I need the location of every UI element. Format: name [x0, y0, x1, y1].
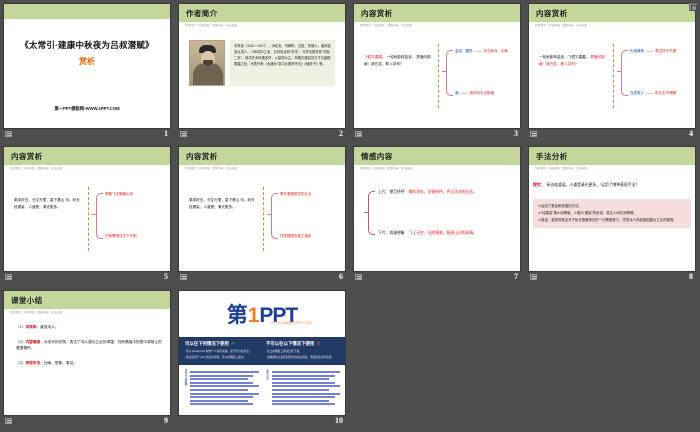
slide-subrule-text-9: 作者简介 · 内容赏析 · 情感内容 · 手法分析 — [10, 310, 62, 314]
notes-icon — [530, 131, 537, 137]
slide-footer-10: 10 — [179, 415, 345, 428]
brace-tip-5 — [92, 214, 96, 215]
usage-allowed-line-1: ·可以 powerpoint 制作个人演示文稿，用于学习和交流。 — [185, 350, 258, 354]
analysis-left-text-5: 乘风好去，长空万里，直下看山 河。斫去桂婆娑，人道是，清光更多。 — [14, 197, 82, 211]
slide-footer-6: 6 — [179, 271, 345, 284]
slide-header-2: 作者简介 — [179, 4, 345, 22]
summary-key-3: 表现手法 — [25, 361, 40, 365]
slide-header-title-6: 内容赏析 — [186, 151, 218, 162]
slide-header-title-2: 作者简介 — [186, 8, 218, 19]
slide-header-5: 内容赏析 — [4, 147, 170, 165]
slide-header-4: 内容赏析 — [529, 4, 695, 22]
brace-shape-3 — [446, 50, 453, 96]
slide-header-title-7: 情感内容 — [361, 151, 393, 162]
brace-tip-3 — [442, 71, 446, 72]
slide-subrule-text-3: 作者简介 · 内容赏析 · 情感内容 · 手法分析 — [360, 23, 412, 27]
branch-bottom-right-6: 抒发报国杀敌之抱负 — [280, 234, 312, 238]
branch-bottom-left-4: 白发欺人 — [630, 91, 644, 95]
notes-icon — [5, 131, 12, 137]
slide-subrule-8: 作者简介 · 内容赏析 · 情感内容 · 手法分析 — [529, 165, 695, 171]
analysis-branch-top-5: 想像飞天俯瞰山河 — [105, 192, 133, 197]
brace-shape-4 — [621, 50, 628, 96]
analysis-left-plain-3: 一轮秋影转金波， — [387, 55, 416, 59]
slide-header-title-3: 内容赏析 — [361, 8, 393, 19]
analysis-left-text-3: 飞镜又重磨。 一轮秋影转金波， 把酒问姮娥：被白发，欺人奈何？ — [364, 54, 432, 68]
summary-key-1: 辛弃疾 — [25, 325, 36, 329]
slide-footer-4: 4 — [529, 128, 695, 141]
slide-cell-7[interactable]: 情感内容 作者简介 · 内容赏析 · 情感内容 · 手法分析 上片：望月抒怀 慨… — [350, 143, 525, 287]
summary-key-2: 内容情感 — [25, 340, 40, 344]
summary-item-2: （2）内容情感：对流年的叹惋，表达了词人建功立业的渴望、扫除黑暗中恢复中原故土的… — [16, 340, 162, 352]
slide-thumbnail-1[interactable]: 《太常引·建康中秋夜为吕叔潜赋》 赏析 第一PPT模板网-WWW.1PPT.CO… — [4, 4, 170, 128]
slide-thumbnail-8[interactable]: 手法分析 作者简介 · 内容赏析 · 情感内容 · 手法分析 探究： “斫去桂婆… — [529, 147, 695, 271]
slide-number-1: 1 — [164, 129, 168, 138]
brand-detail-columns: 第1PPT模板网 免费下载 — [179, 365, 345, 415]
brace-tip-4 — [617, 71, 621, 72]
notes-icon — [180, 131, 187, 137]
slide-header-title-5: 内容赏析 — [11, 151, 43, 162]
slide-cell-6[interactable]: 内容赏析 作者简介 · 内容赏析 · 情感内容 · 手法分析 乘风好去，长空万里… — [175, 143, 350, 287]
brace-shape-5 — [96, 193, 103, 239]
brand-detail-left: 第1PPT模板网 — [184, 369, 259, 411]
branch-bottom-left-3: 酒 — [455, 91, 459, 95]
summary-text-3: ：比喻、想象、象征。 — [40, 361, 77, 365]
notes-icon — [355, 274, 362, 280]
slide-number-7: 7 — [514, 272, 518, 281]
technique-question-key: 探究： — [533, 183, 544, 187]
slide-number-6: 6 — [339, 272, 343, 281]
analysis-branch-bottom-3: 酒 —— 用问句引出愁绪 — [455, 91, 494, 96]
slide-thumbnail-4[interactable]: 内容赏析 作者简介 · 内容赏析 · 情感内容 · 手法分析 一轮秋影转金波，飞… — [529, 4, 695, 128]
technique-question: 探究： “斫去桂婆娑，人道是清光更多。”运用了哪种表现手法？ — [533, 183, 691, 188]
title-slide-sub-title: 赏析 — [79, 56, 95, 67]
slide-thumbnail-grid: 《太常引·建康中秋夜为吕叔潜赋》 赏析 第一PPT模板网-WWW.1PPT.CO… — [0, 0, 700, 432]
slide-cell-empty-2 — [525, 287, 700, 432]
summary-item-1: （1）辛弃疾：豪放词人。 — [16, 325, 162, 331]
notes-icon — [5, 274, 12, 280]
technique-question-text: “斫去桂婆娑，人道是清光更多。”运用了哪种表现手法？ — [545, 183, 639, 187]
emotion-label-lower: 下片：浪漫想象 — [378, 231, 405, 235]
slide-cell-3[interactable]: 内容赏析 作者简介 · 内容赏析 · 情感内容 · 手法分析 飞镜又重磨。 一轮… — [350, 0, 525, 143]
portrait-beard — [203, 60, 213, 66]
usage-allowed-line-2: ·建立适用于 web 的演示文稿，可以在网络上发布。 — [185, 356, 258, 360]
analysis-left-text-4: 一轮秋影转金波，飞镜又重磨。 把酒问姮娥：被白发，欺人奈何？ — [539, 54, 607, 68]
slide-cell-4[interactable]: 内容赏析 作者简介 · 内容赏析 · 情感内容 · 手法分析 一轮秋影转金波，飞… — [525, 0, 700, 143]
branch-dash-4: —— — [645, 49, 654, 53]
analysis-branch-top-6: 寄托澄清寰宇的壮志 — [280, 192, 312, 197]
title-slide-main-title: 《太常引·建康中秋夜为吕叔潜赋》 — [20, 39, 154, 51]
brand-right-lines — [272, 369, 340, 411]
emotion-row-lower: 下片：浪漫想象 飞上天空，扫除黑暗，照亮山河的豪情。 — [378, 231, 477, 236]
portrait-robe — [193, 63, 223, 85]
usage-forbidden-column: 不可以在以下情况下使用 ✘ ·禁止在网络上再次出售下载。 ·出版销售以及任何形式… — [266, 341, 339, 360]
title-slide-top-band — [4, 4, 170, 19]
slide-cell-9[interactable]: 课堂小结 作者简介 · 内容赏析 · 情感内容 · 手法分析 （1）辛弃疾：豪放… — [0, 287, 175, 432]
slide-number-8: 8 — [689, 272, 693, 281]
slide-footer-1: 1 — [4, 128, 170, 141]
divider-dashed-4 — [613, 44, 614, 108]
slide-subrule-text-4: 作者简介 · 内容赏析 · 情感内容 · 手法分析 — [535, 23, 587, 27]
brand-left-lines — [190, 369, 258, 411]
technique-answer-2: ②“桂婆娑”指人间黑暗，①借对“婆娑”的斫伐，表达人间扫清黑暗。 — [538, 210, 686, 217]
slide-number-10: 10 — [335, 416, 343, 425]
emotion-row-upper: 上片：望月抒怀 慨叹流年，对镜伤怀，件记功业的壮志。 — [378, 190, 477, 195]
slide-cell-1[interactable]: 《太常引·建康中秋夜为吕叔潜赋》 赏析 第一PPT模板网-WWW.1PPT.CO… — [0, 0, 175, 143]
slide-thumbnail-3[interactable]: 内容赏析 作者简介 · 内容赏析 · 情感内容 · 手法分析 飞镜又重磨。 一轮… — [354, 4, 520, 128]
slide-thumbnail-6[interactable]: 内容赏析 作者简介 · 内容赏析 · 情感内容 · 手法分析 乘风好去，长空万里… — [179, 147, 345, 271]
author-portrait-image — [189, 40, 225, 86]
divider-dashed-5 — [88, 187, 89, 251]
author-bio-text: 辛弃疾（1140－1207），字幼安，号稼轩，汉族，历城人。南宋豪放派词人，人称… — [230, 40, 335, 86]
branch-bottom-right-3: 用问句引出愁绪 — [469, 91, 494, 95]
slide-number-5: 5 — [164, 272, 168, 281]
slide-subrule-text-6: 作者简介 · 内容赏析 · 情感内容 · 手法分析 — [185, 166, 237, 170]
branch-top-right-5: 想像飞天俯瞰山河 — [105, 192, 133, 196]
branch-top-left-3: 金波、圆镜 — [455, 49, 473, 53]
slide-header-9: 课堂小结 — [4, 291, 170, 309]
cross-icon: ✘ — [316, 341, 320, 347]
slide-footer-2: 2 — [179, 128, 345, 141]
brand-logo-prefix: 第 — [227, 299, 247, 329]
summary-text-1: ：豪放词人。 — [37, 325, 59, 329]
analysis-left-plain-4: 一轮秋影转金波，飞镜又重磨。 — [539, 55, 589, 59]
summary-item-3: （3）表现手法：比喻、想象、象征。 — [16, 361, 162, 367]
analysis-branch-top-4: 化用典故 —— 表达怀才不遇 — [630, 49, 676, 54]
slide-header-6: 内容赏析 — [179, 147, 345, 165]
slide-subrule-text-5: 作者简介 · 内容赏析 · 情感内容 · 手法分析 — [10, 166, 62, 170]
branch-top-left-4: 化用典故 — [630, 49, 644, 53]
slide-subrule-text-2: 作者简介 · 内容赏析 · 情感内容 · 手法分析 — [185, 23, 237, 27]
notes-icon — [180, 274, 187, 280]
usage-forbidden-title: 不可以在以下情况下使用 — [266, 341, 314, 347]
analysis-branch-top-3: 金波、圆镜 —— 写中秋月、中秋 — [455, 49, 508, 54]
brace-shape-6 — [271, 193, 278, 239]
slide-header-title-9: 课堂小结 — [11, 295, 43, 306]
emotion-label-upper: 上片：望月抒怀 — [378, 190, 405, 194]
analysis-branch-bottom-4: 白发欺人 —— 叹壮志不得酬 — [630, 91, 676, 96]
slide-subrule-text-7: 作者简介 · 内容赏析 · 情感内容 · 手法分析 — [360, 166, 412, 170]
slide-header-8: 手法分析 — [529, 147, 695, 165]
analysis-branch-bottom-5: 扫荡黑暗还天下光明 — [105, 234, 137, 239]
brand-right-side-label: 免费下载 — [266, 369, 269, 411]
divider-dashed-6 — [263, 187, 264, 251]
divider-dashed-3 — [438, 44, 439, 108]
brand-logo-url: HTTP://WWW.1PPT.COM — [271, 321, 311, 325]
analysis-left-red-3: 飞镜又重磨。 — [364, 55, 386, 59]
branch-top-right-3: 写中秋月、中秋 — [483, 49, 508, 53]
branch-dash2-3: —— — [459, 91, 468, 95]
brand-logo-one: 1 — [248, 304, 259, 328]
branch-top-right-4: 表达怀才不遇 — [655, 49, 676, 53]
slide-number-4: 4 — [689, 129, 693, 138]
slide-thumbnail-5[interactable]: 内容赏析 作者简介 · 内容赏析 · 情感内容 · 手法分析 乘风好去，长空万里… — [4, 147, 170, 271]
slide-header-title-8: 手法分析 — [536, 151, 568, 162]
slide-number-2: 2 — [339, 129, 343, 138]
slide-thumbnail-9[interactable]: 课堂小结 作者简介 · 内容赏析 · 情感内容 · 手法分析 （1）辛弃疾：豪放… — [4, 291, 170, 415]
slide-cell-empty-1 — [350, 287, 525, 432]
notes-icon — [5, 418, 12, 424]
powerpoint-slide-sorter: 《太常引·建康中秋夜为吕叔潜赋》 赏析 第一PPT模板网-WWW.1PPT.CO… — [0, 0, 700, 432]
branch-bottom-right-4: 叹壮志不得酬 — [655, 91, 676, 95]
slide-thumbnail-10[interactable]: 第1PPT HTTP://WWW.1PPT.COM 可以在下列情况下使用 ✔ ·… — [179, 291, 345, 415]
usage-terms-bar: 可以在下列情况下使用 ✔ ·可以 powerpoint 制作个人演示文稿，用于学… — [179, 337, 345, 365]
notes-icon — [530, 274, 537, 280]
technique-answer-3: ③浪漫、豪放的笔法写了斫去遮蔽清光的一切黑暗势力，抒发诗人杀敌报国建功立业的豪情… — [538, 217, 686, 224]
slide-cell-2[interactable]: 作者简介 作者简介 · 内容赏析 · 情感内容 · 手法分析 辛弃疾（1140－… — [175, 0, 350, 143]
usage-forbidden-line-2: ·出版销售以及任何形式的商业用途，否则必究法律责任。 — [266, 356, 339, 360]
slide-cell-5[interactable]: 内容赏析 作者简介 · 内容赏析 · 情感内容 · 手法分析 乘风好去，长空万里… — [0, 143, 175, 287]
zoom-control-icon[interactable] — [689, 3, 697, 11]
slide-subrule-text-8: 作者简介 · 内容赏析 · 情感内容 · 手法分析 — [535, 166, 587, 170]
notes-icon — [355, 131, 362, 137]
emotion-value-lower: 飞上天空，扫除黑暗，照亮山河的豪情。 — [409, 231, 477, 235]
technique-answer-1: ①运用了象征和浪漫的手法。 — [538, 203, 686, 210]
slide-footer-5: 5 — [4, 271, 170, 284]
branch-bottom-right-5: 扫荡黑暗还天下光明 — [105, 234, 137, 238]
slide-number-9: 9 — [164, 416, 168, 425]
usage-forbidden-line-1: ·禁止在网络上再次出售下载。 — [266, 350, 339, 354]
slide-header-title-4: 内容赏析 — [536, 8, 568, 19]
brand-left-side-label: 第1PPT模板网 — [184, 369, 187, 411]
slide-footer-3: 3 — [354, 128, 520, 141]
technique-answer-box: ①运用了象征和浪漫的手法。 ②“桂婆娑”指人间黑暗，①借对“婆娑”的斫伐，表达人… — [533, 199, 691, 228]
branch-top-right-6: 寄托澄清寰宇的壮志 — [280, 192, 312, 196]
slide-footer-7: 7 — [354, 271, 520, 284]
slide-cell-8[interactable]: 手法分析 作者简介 · 内容赏析 · 情感内容 · 手法分析 探究： “斫去桂婆… — [525, 143, 700, 287]
slide-thumbnail-7[interactable]: 情感内容 作者简介 · 内容赏析 · 情感内容 · 手法分析 上片：望月抒怀 慨… — [354, 147, 520, 271]
analysis-left-plain-5: 乘风好去，长空万里，直下看山 — [14, 198, 64, 202]
analysis-left-text-6: 乘风好去，长空万里，直下看山 河。斫去桂婆娑，人道是，清光更多。 — [189, 197, 257, 211]
slide-thumbnail-2[interactable]: 作者简介 作者简介 · 内容赏析 · 情感内容 · 手法分析 辛弃疾（1140－… — [179, 4, 345, 128]
check-icon: ✔ — [231, 341, 235, 347]
analysis-left-plain-6: 乘风好去，长空万里，直下看山 — [189, 198, 239, 202]
brace-tip-6 — [267, 214, 271, 215]
brand-logo: 第1PPT HTTP://WWW.1PPT.COM — [179, 291, 345, 337]
emotion-brace-tip — [364, 212, 368, 213]
slide-cell-10[interactable]: 第1PPT HTTP://WWW.1PPT.COM 可以在下列情况下使用 ✔ ·… — [175, 287, 350, 432]
title-slide-credit: 第一PPT模板网-WWW.1PPT.COM — [54, 106, 119, 112]
branch-dash2-4: —— — [645, 91, 654, 95]
slide-header-3: 内容赏析 — [354, 4, 520, 22]
brand-detail-right: 免费下载 — [266, 369, 341, 411]
emotion-value-upper: 慨叹流年，对镜伤怀，件记功业的壮志。 — [409, 190, 477, 194]
slide-footer-8: 8 — [529, 271, 695, 284]
analysis-branch-bottom-6: 抒发报国杀敌之抱负 — [280, 234, 312, 239]
emotion-brace — [368, 191, 375, 235]
branch-dash-3: —— — [473, 49, 482, 53]
slide-header-7: 情感内容 — [354, 147, 520, 165]
slide-number-3: 3 — [514, 129, 518, 138]
usage-allowed-column: 可以在下列情况下使用 ✔ ·可以 powerpoint 制作个人演示文稿，用于学… — [185, 341, 258, 360]
slide-footer-9: 9 — [4, 415, 170, 428]
usage-allowed-title: 可以在下列情况下使用 — [185, 341, 229, 347]
